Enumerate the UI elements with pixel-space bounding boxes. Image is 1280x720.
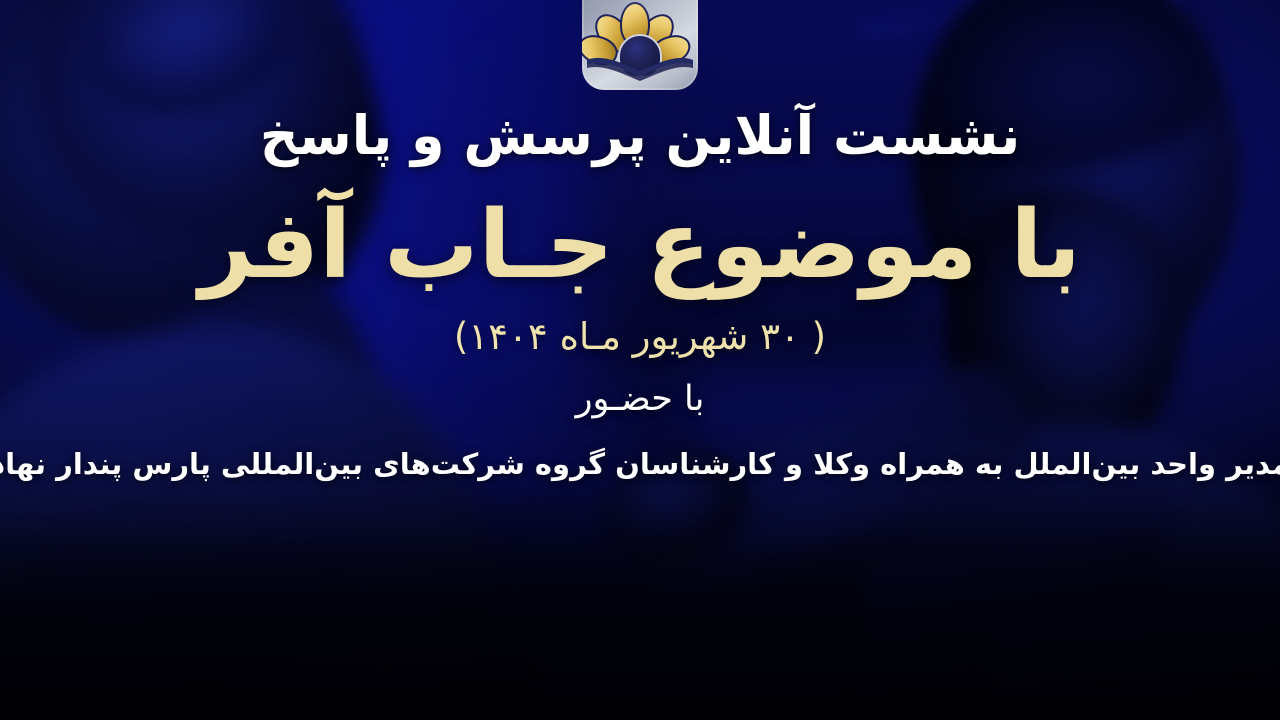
poster-headline: نشست آنلاین پرسش و پاسخ bbox=[260, 108, 1021, 165]
poster-guest-list: مدیر واحد بین‌الملل به همراه وکلا و کارش… bbox=[0, 447, 1280, 481]
poster-text-stack: نشست آنلاین پرسش و پاسخ با موضوع جـاب آف… bbox=[0, 0, 1280, 720]
webinar-poster: نشست آنلاین پرسش و پاسخ با موضوع جـاب آف… bbox=[0, 0, 1280, 720]
poster-with-presence-label: با حضـور bbox=[576, 379, 705, 419]
poster-topic-title: با موضوع جـاب آفر bbox=[199, 199, 1081, 293]
poster-event-date: ( ۳۰ شهریور مـاه ۱۴۰۴) bbox=[454, 317, 826, 358]
